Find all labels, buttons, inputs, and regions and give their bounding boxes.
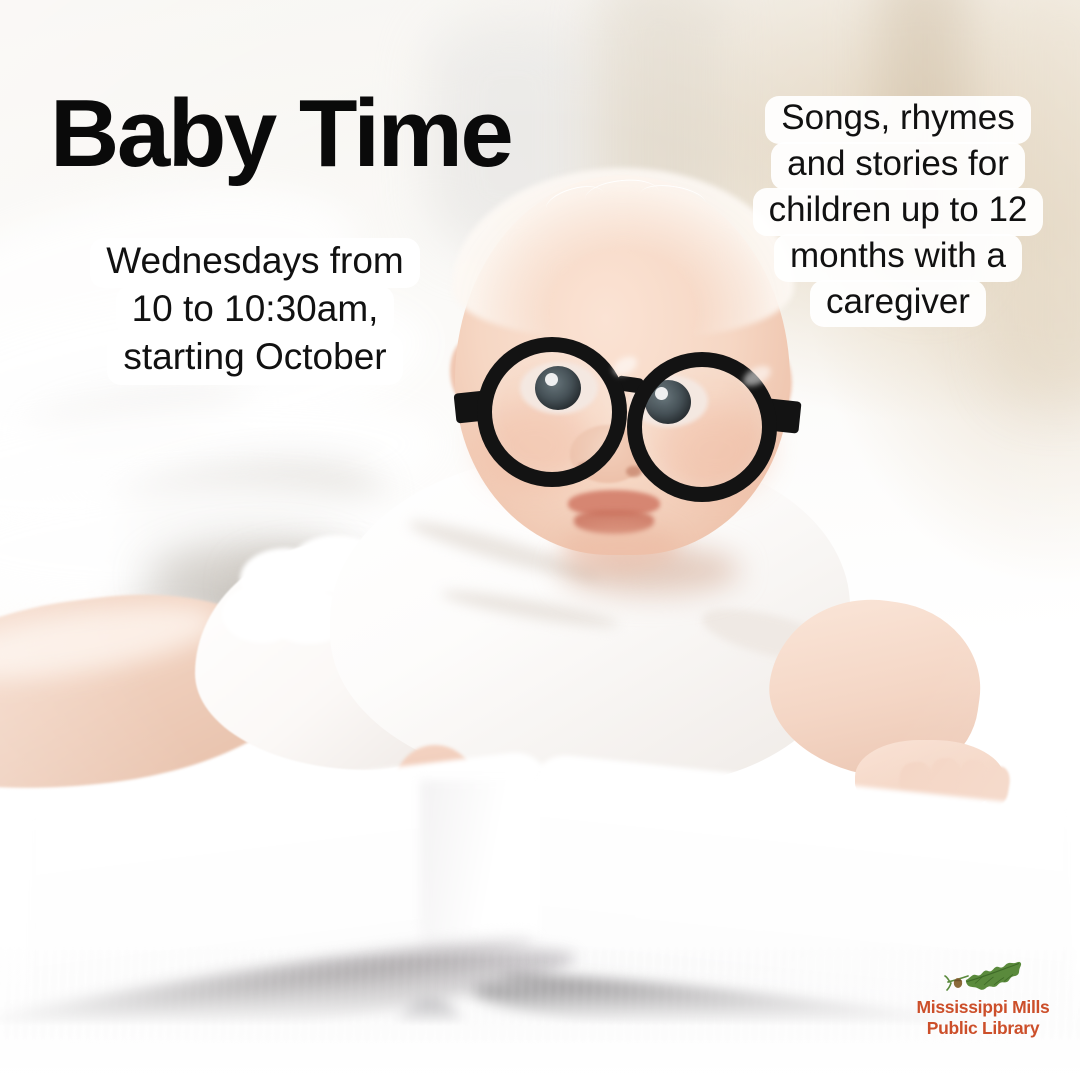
description-line: Songs, rhymes [765, 96, 1030, 144]
logo-line-2: Public Library [908, 1018, 1058, 1039]
description-callout: Songs, rhymes and stories for children u… [748, 96, 1048, 325]
description-line: caregiver [810, 280, 986, 328]
description-line: children up to 12 [753, 188, 1044, 236]
page-title: Baby Time [50, 86, 511, 182]
oak-leaf-with-acorn-icon [908, 960, 1058, 996]
library-logo: Mississippi Mills Public Library [908, 960, 1058, 1038]
description-line: and stories for [771, 142, 1025, 190]
schedule-line: Wednesdays from [90, 238, 420, 288]
description-line: months with a [774, 234, 1022, 282]
glasses-lens [477, 337, 627, 487]
schedule-callout: Wednesdays from 10 to 10:30am, starting … [80, 238, 430, 383]
schedule-line: 10 to 10:30am, [116, 286, 395, 336]
baby-time-poster: Baby Time Wednesdays from 10 to 10:30am,… [0, 0, 1080, 1080]
baby-chin [560, 525, 680, 571]
logo-line-1: Mississippi Mills [908, 997, 1058, 1018]
schedule-line: starting October [107, 334, 402, 384]
